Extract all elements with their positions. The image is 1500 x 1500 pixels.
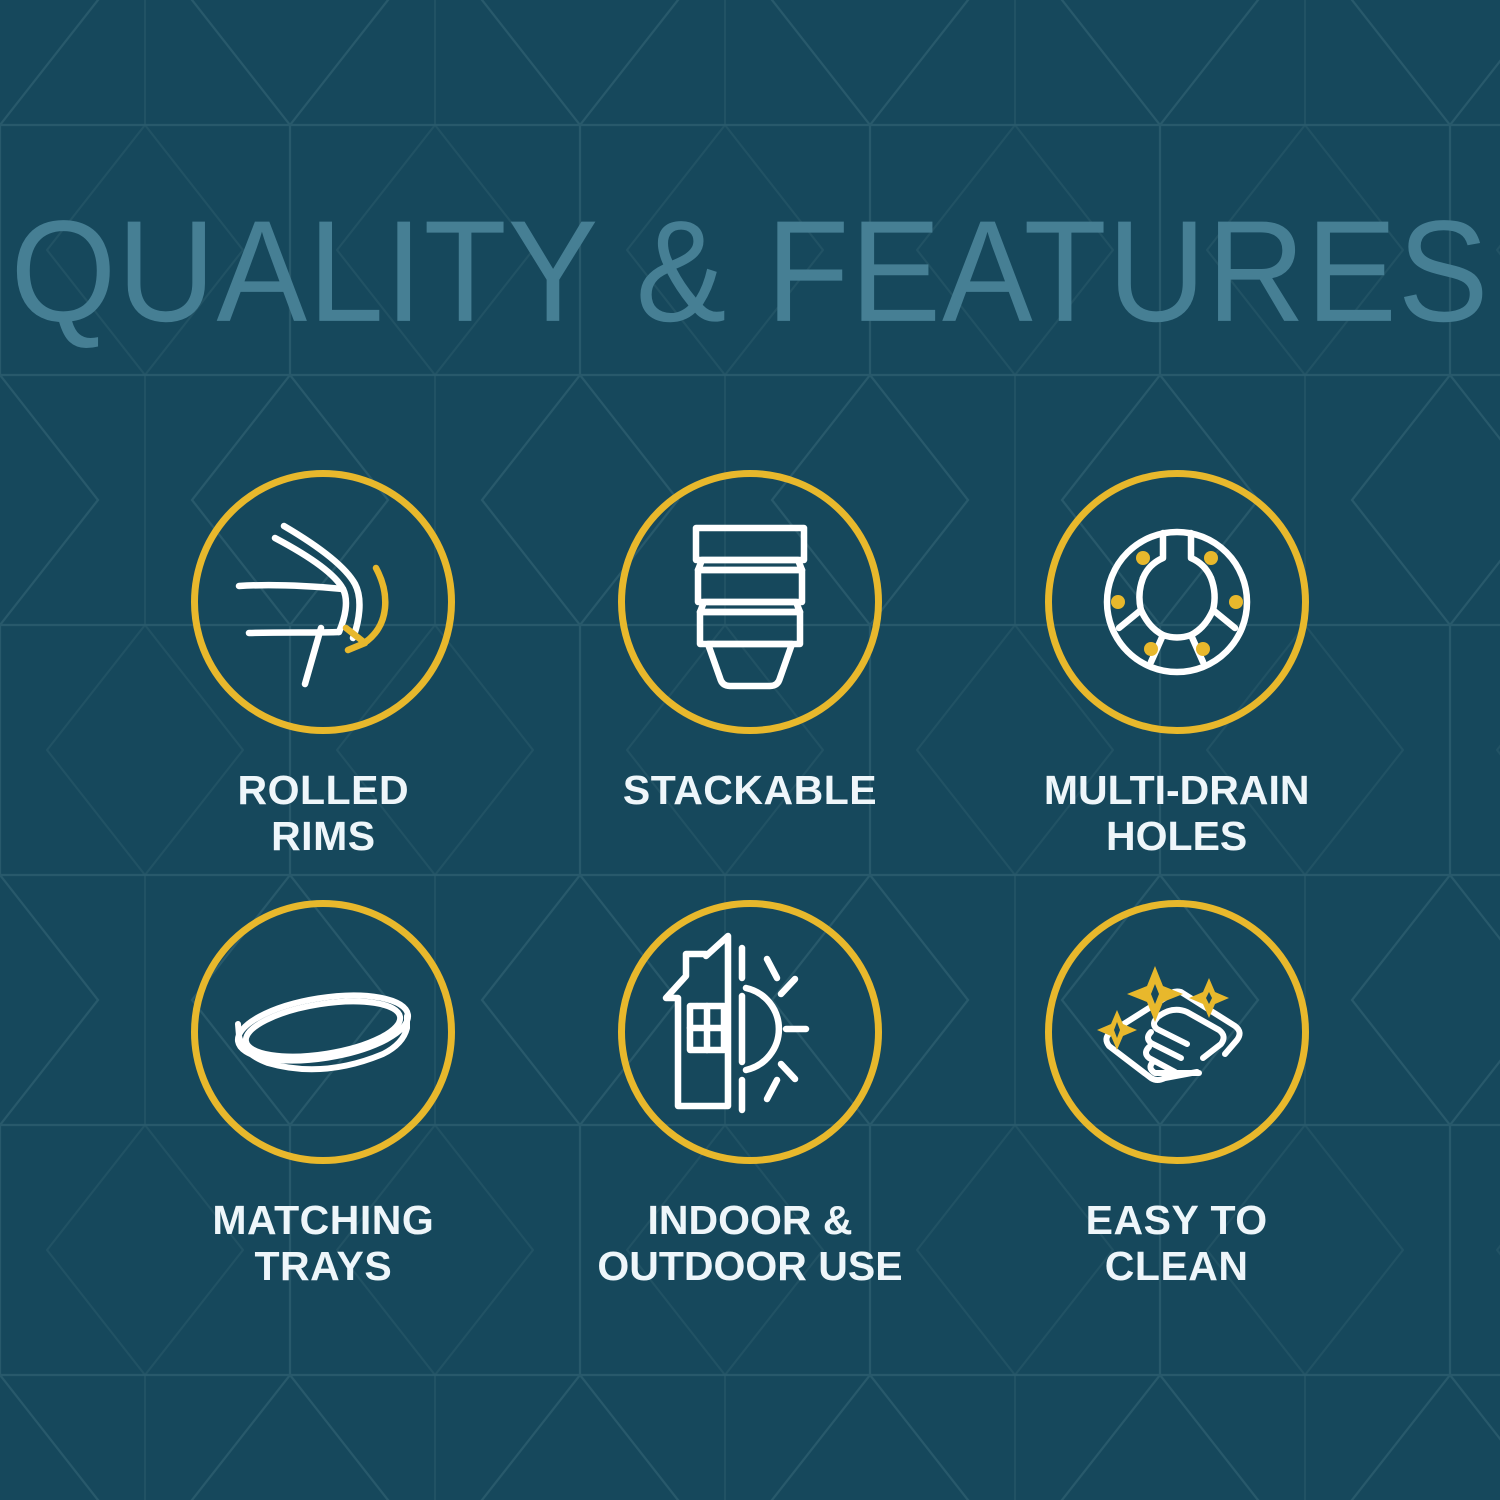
feature-label: ROLLED RIMS [238, 768, 410, 860]
feature-icon-ring [618, 900, 882, 1164]
drain-holes-icon [1077, 502, 1277, 702]
feature-label: INDOOR & OUTDOOR USE [597, 1198, 902, 1290]
feature-grid: ROLLED RIMS STACKABLE [110, 470, 1390, 1330]
feature-rolled-rims[interactable]: ROLLED RIMS [110, 470, 537, 900]
feature-icon-ring [1045, 900, 1309, 1164]
page-title: QUALITY & FEATURES [10, 199, 1489, 343]
wiping-hand-sparkle-icon [1077, 932, 1277, 1132]
feature-icon-ring [191, 470, 455, 734]
feature-multi-drain-holes[interactable]: MULTI-DRAIN HOLES [963, 470, 1390, 900]
feature-easy-to-clean[interactable]: EASY TO CLEAN [963, 900, 1390, 1330]
feature-indoor-outdoor-use[interactable]: INDOOR & OUTDOOR USE [537, 900, 964, 1330]
feature-label: MULTI-DRAIN HOLES [1044, 768, 1310, 860]
saucer-tray-icon [223, 932, 423, 1132]
feature-label: MATCHING TRAYS [212, 1198, 434, 1290]
feature-label: STACKABLE [623, 768, 877, 814]
feature-label: EASY TO CLEAN [1086, 1198, 1268, 1290]
page-title-container: QUALITY & FEATURES [0, 196, 1500, 346]
feature-icon-ring [618, 470, 882, 734]
feature-matching-trays[interactable]: MATCHING TRAYS [110, 900, 537, 1330]
feature-icon-ring [191, 900, 455, 1164]
rolled-rim-icon [223, 502, 423, 702]
house-sun-icon [650, 932, 850, 1132]
stacked-pots-icon [650, 502, 850, 702]
feature-icon-ring [1045, 470, 1309, 734]
feature-infographic: QUALITY & FEATURES [0, 0, 1500, 1500]
feature-stackable[interactable]: STACKABLE [537, 470, 964, 900]
